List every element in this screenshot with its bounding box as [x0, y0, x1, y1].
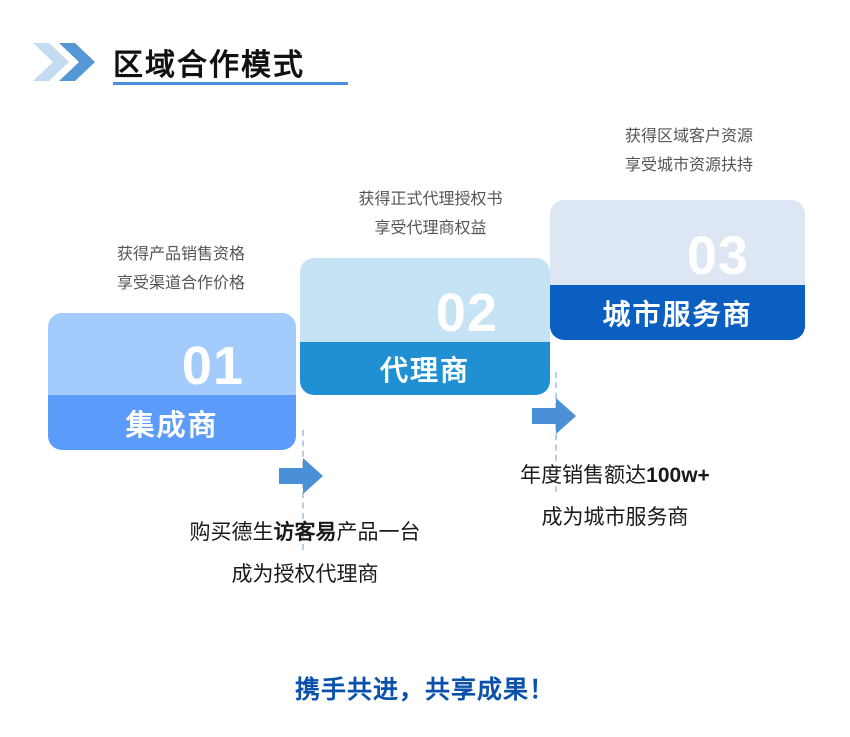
- requirement-1-highlight: 访客易: [274, 521, 337, 544]
- tier-card-integrator[interactable]: 01 集成商: [48, 313, 296, 450]
- tier-caption-3: 获得区域客户资源 享受城市资源扶持: [594, 122, 784, 180]
- requirement-1-line-2: 成为授权代理商: [140, 554, 470, 596]
- title-underline: [113, 82, 348, 85]
- tier-card-2-bottom: 代理商: [300, 342, 550, 395]
- tier-number-2: 02: [436, 286, 498, 340]
- tier-caption-1: 获得产品销售资格 享受渠道合作价格: [86, 240, 276, 298]
- requirement-2-pre: 年度销售额达: [520, 464, 646, 487]
- footer-slogan: 携手共进，共享成果！: [0, 670, 850, 706]
- tier-card-city-service-provider[interactable]: 03 城市服务商: [550, 200, 805, 340]
- tier-label-3: 城市服务商: [602, 293, 752, 333]
- tier-card-agent[interactable]: 02 代理商: [300, 258, 550, 395]
- tier-card-1-top: 01: [48, 313, 296, 395]
- tier-number-1: 01: [182, 339, 244, 393]
- page-header: 区域合作模式: [0, 0, 850, 100]
- requirement-2-highlight: 100w+: [646, 464, 710, 487]
- tier-caption-2: 获得正式代理授权书 享受代理商权益: [333, 185, 528, 243]
- requirement-2-line-1: 年度销售额达100w+: [455, 455, 775, 497]
- tier-label-1: 集成商: [125, 402, 218, 444]
- tier-caption-1-line-2: 享受渠道合作价格: [86, 269, 276, 298]
- requirement-1-post: 产品一台: [337, 521, 421, 544]
- tier-caption-3-line-1: 获得区域客户资源: [594, 122, 784, 151]
- requirement-2-line-2: 成为城市服务商: [455, 497, 775, 539]
- requirement-1-pre: 购买德生: [190, 521, 274, 544]
- page-title: 区域合作模式: [113, 40, 305, 84]
- tier-card-2-top: 02: [300, 258, 550, 342]
- arrow-right-icon: [279, 458, 323, 494]
- tier-card-1-bottom: 集成商: [48, 395, 296, 450]
- tier-caption-3-line-2: 享受城市资源扶持: [594, 151, 784, 180]
- double-chevron-right-icon: [33, 43, 105, 81]
- arrow-right-icon: [532, 398, 576, 434]
- tier-label-2: 代理商: [380, 349, 470, 389]
- tier-card-3-bottom: 城市服务商: [550, 285, 805, 340]
- requirement-text-2: 年度销售额达100w+ 成为城市服务商: [455, 455, 775, 539]
- requirement-text-1: 购买德生访客易产品一台 成为授权代理商: [140, 512, 470, 596]
- tier-card-3-top: 03: [550, 200, 805, 285]
- requirement-1-line-1: 购买德生访客易产品一台: [140, 512, 470, 554]
- tier-number-3: 03: [687, 229, 749, 283]
- tier-caption-2-line-1: 获得正式代理授权书: [333, 185, 528, 214]
- tier-caption-2-line-2: 享受代理商权益: [333, 214, 528, 243]
- tier-caption-1-line-1: 获得产品销售资格: [86, 240, 276, 269]
- partnership-tiers-diagram: 获得产品销售资格 享受渠道合作价格 获得正式代理授权书 享受代理商权益 获得区域…: [0, 100, 850, 620]
